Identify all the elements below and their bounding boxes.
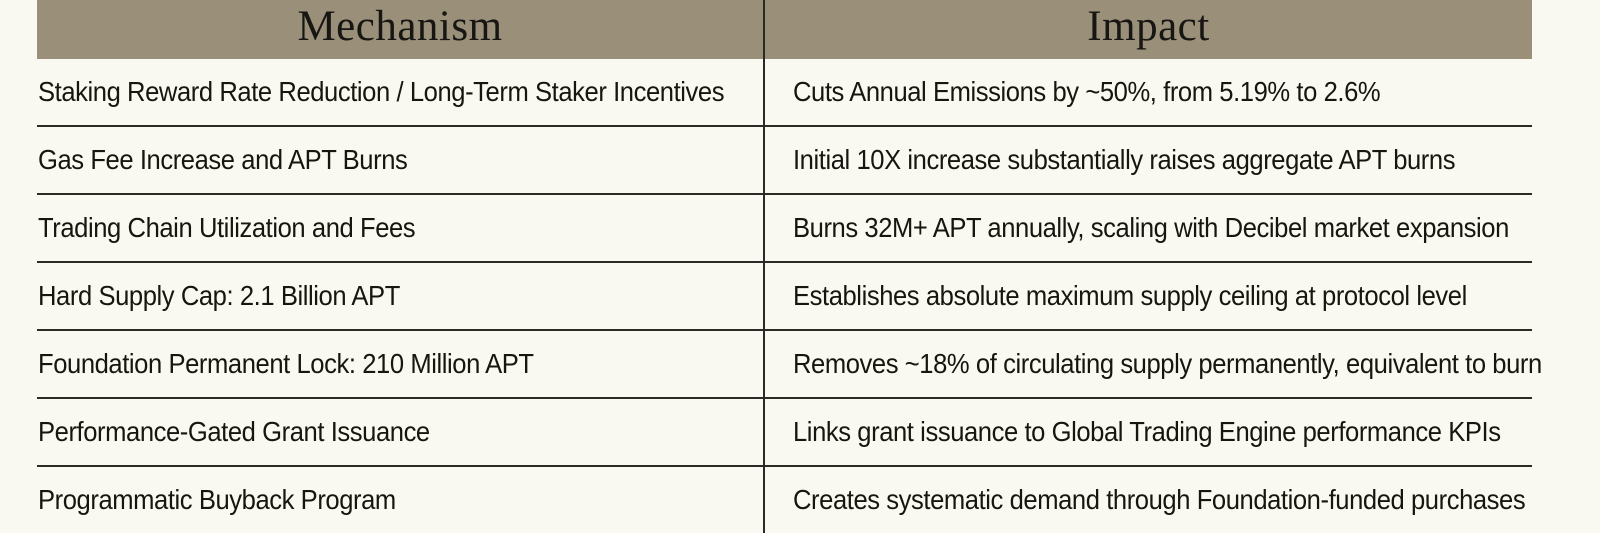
cell-impact-text: Removes ~18% of circulating supply perma… (793, 349, 1480, 379)
column-header-impact-label: Impact (765, 5, 1532, 48)
table-row: Hard Supply Cap: 2.1 Billion APT Establi… (37, 262, 1532, 330)
cell-mechanism-text: Gas Fee Increase and APT Burns (38, 145, 712, 175)
cell-impact-text: Links grant issuance to Global Trading E… (793, 417, 1480, 447)
cell-impact: Cuts Annual Emissions by ~50%, from 5.19… (764, 59, 1532, 126)
cell-impact-text: Initial 10X increase substantially raise… (793, 145, 1480, 175)
column-header-mechanism: Mechanism (37, 0, 764, 59)
cell-impact: Burns 32M+ APT annually, scaling with De… (764, 194, 1532, 262)
cell-mechanism-text: Staking Reward Rate Reduction / Long-Ter… (38, 77, 712, 107)
table-row: Programmatic Buyback Program Creates sys… (37, 466, 1532, 533)
cell-impact-text: Creates systematic demand through Founda… (793, 485, 1480, 515)
cell-impact-text: Burns 32M+ APT annually, scaling with De… (793, 213, 1480, 243)
table-header-row: Mechanism Impact (37, 0, 1532, 59)
column-header-impact: Impact (764, 0, 1532, 59)
cell-mechanism: Gas Fee Increase and APT Burns (37, 126, 764, 194)
table-row: Performance-Gated Grant Issuance Links g… (37, 398, 1532, 466)
table-row: Gas Fee Increase and APT Burns Initial 1… (37, 126, 1532, 194)
cell-mechanism: Programmatic Buyback Program (37, 466, 764, 533)
cell-mechanism: Trading Chain Utilization and Fees (37, 194, 764, 262)
table-body: Staking Reward Rate Reduction / Long-Ter… (37, 59, 1532, 533)
cell-impact: Creates systematic demand through Founda… (764, 466, 1532, 533)
column-header-mechanism-label: Mechanism (37, 5, 763, 48)
cell-mechanism: Hard Supply Cap: 2.1 Billion APT (37, 262, 764, 330)
cell-impact-text: Cuts Annual Emissions by ~50%, from 5.19… (793, 77, 1480, 107)
cell-mechanism: Performance-Gated Grant Issuance (37, 398, 764, 466)
cell-mechanism-text: Performance-Gated Grant Issuance (38, 417, 712, 447)
cell-impact: Initial 10X increase substantially raise… (764, 126, 1532, 194)
table-row: Staking Reward Rate Reduction / Long-Ter… (37, 59, 1532, 126)
cell-mechanism-text: Trading Chain Utilization and Fees (38, 213, 712, 243)
cell-mechanism-text: Foundation Permanent Lock: 210 Million A… (38, 349, 712, 379)
cell-mechanism-text: Hard Supply Cap: 2.1 Billion APT (38, 281, 712, 311)
cell-impact: Establishes absolute maximum supply ceil… (764, 262, 1532, 330)
cell-impact-text: Establishes absolute maximum supply ceil… (793, 281, 1480, 311)
table-header: Mechanism Impact (37, 0, 1532, 59)
cell-mechanism-text: Programmatic Buyback Program (38, 485, 712, 515)
comparison-table-wrapper: Mechanism Impact Staking Reward Rate Red… (37, 0, 1532, 528)
cell-impact: Links grant issuance to Global Trading E… (764, 398, 1532, 466)
cell-mechanism: Foundation Permanent Lock: 210 Million A… (37, 330, 764, 398)
page-root: Mechanism Impact Staking Reward Rate Red… (0, 0, 1600, 528)
cell-mechanism: Staking Reward Rate Reduction / Long-Ter… (37, 59, 764, 126)
table-row: Trading Chain Utilization and Fees Burns… (37, 194, 1532, 262)
mechanism-impact-table: Mechanism Impact Staking Reward Rate Red… (37, 0, 1532, 533)
cell-impact: Removes ~18% of circulating supply perma… (764, 330, 1532, 398)
table-row: Foundation Permanent Lock: 210 Million A… (37, 330, 1532, 398)
